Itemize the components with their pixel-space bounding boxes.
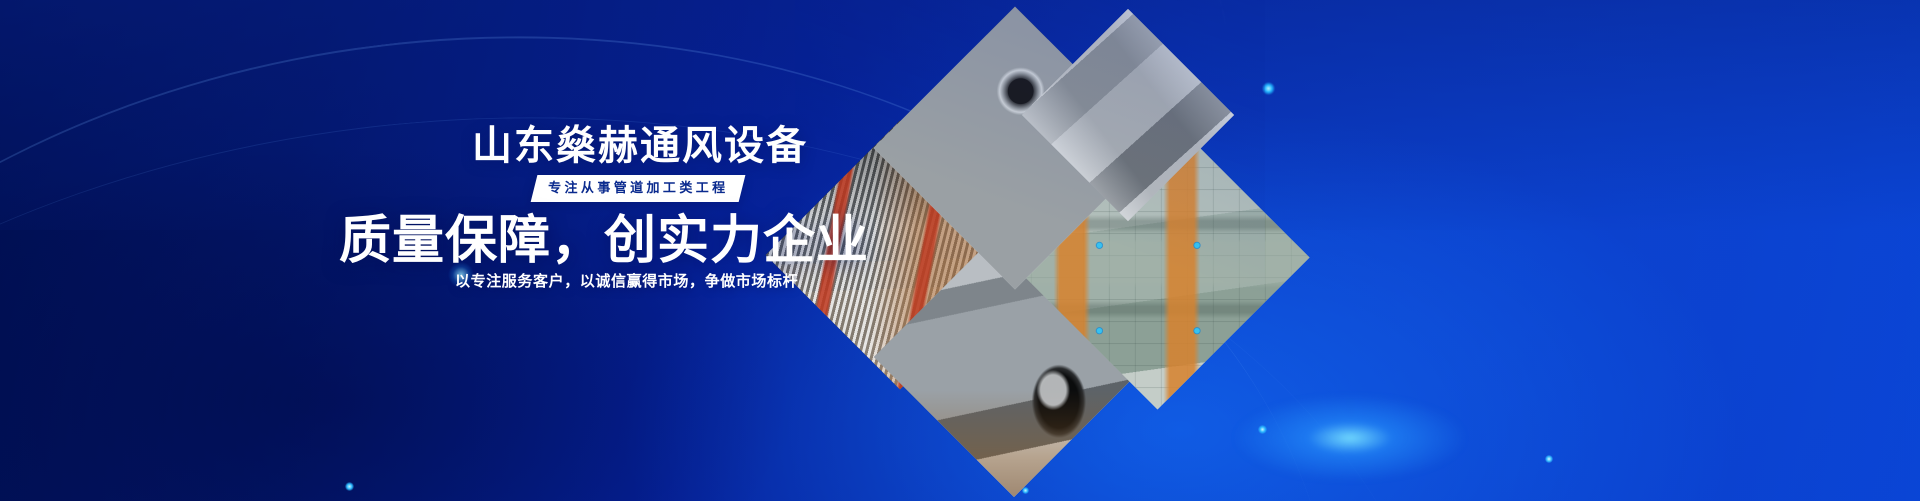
banner-copy: 山东燊赫通风设备 专注从事管道加工类工程 质量保障，创实力企业 以专注服务客户，… [0, 0, 800, 501]
specialty-badge: 专注从事管道加工类工程 [531, 175, 746, 202]
headline: 质量保障，创实力企业 [339, 212, 869, 270]
specialty-badge-label: 专注从事管道加工类工程 [548, 180, 728, 196]
tagline: 以专注服务客户，以诚信赢得市场，争做市场标杆 [455, 274, 798, 289]
light-dot-icon [1545, 455, 1553, 463]
brand-title: 山东燊赫通风设备 [472, 126, 808, 166]
hero-banner: 山东燊赫通风设备 专注从事管道加工类工程 质量保障，创实力企业 以专注服务客户，… [0, 0, 1920, 501]
cyan-glow [1235, 395, 1465, 481]
